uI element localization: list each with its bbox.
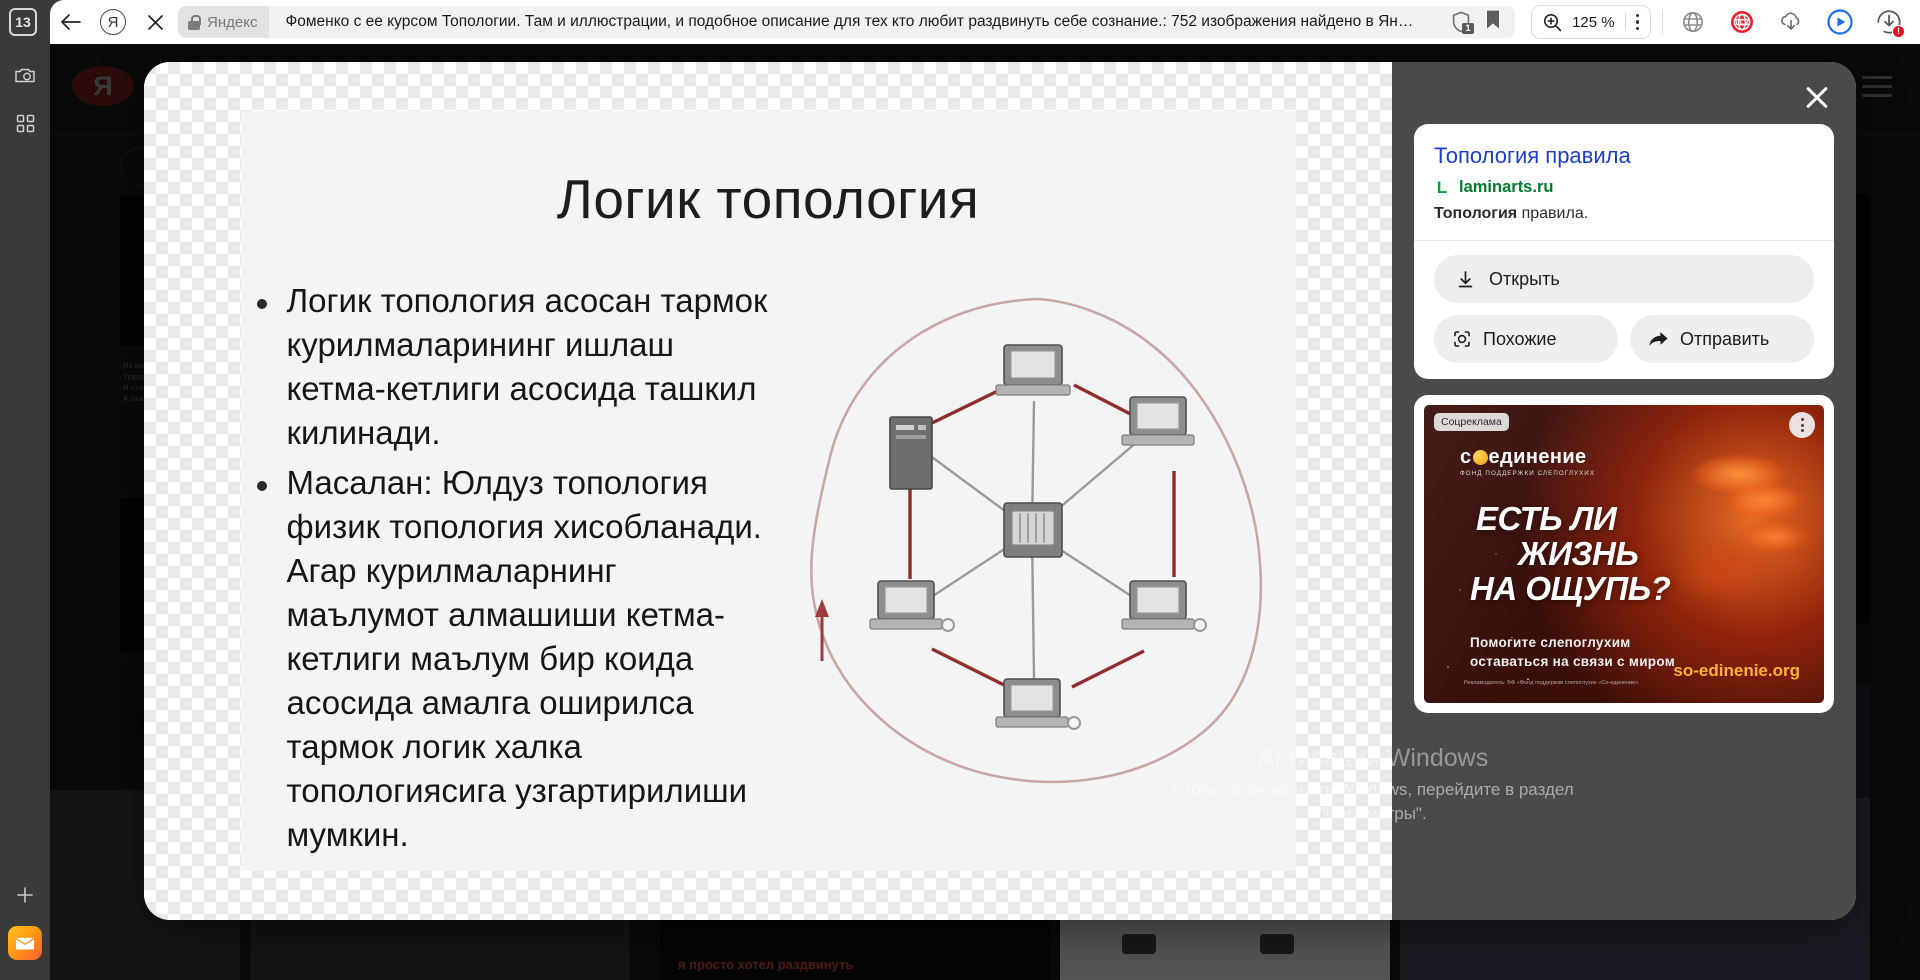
ad-options-icon[interactable] <box>1789 412 1815 438</box>
presentation-slide: Логик топология Логик топология асосан т… <box>241 111 1296 871</box>
zoom-level-label: 125 % <box>1572 14 1615 31</box>
ad-logo-text: сединение <box>1460 447 1595 467</box>
shield-blocker-icon[interactable]: 1 <box>1451 11 1471 33</box>
zoom-in-icon <box>1543 13 1562 32</box>
download-error-badge: ! <box>1892 25 1905 38</box>
close-icon[interactable] <box>1800 80 1834 114</box>
svg-text:VLX: VLX <box>1735 20 1749 27</box>
zoom-control[interactable]: 125 % <box>1531 5 1651 39</box>
ad-logo: сединение ФОНД ПОДДЕРЖКИ СЛЕПОГЛУХИХ <box>1460 447 1595 477</box>
similar-images-icon <box>1452 329 1472 349</box>
slide-bullet-list: Логик топология асосан тармок курилмалар… <box>257 279 777 863</box>
tab-count-badge[interactable]: 13 <box>9 8 37 36</box>
apps-grid-icon[interactable] <box>8 106 42 140</box>
similar-button-label: Похожие <box>1483 329 1556 350</box>
snippet-highlight: Топология <box>1434 205 1517 222</box>
cloud-download-icon[interactable] <box>1776 7 1806 37</box>
list-item: Масалан: Юлдуз топология физик топология… <box>257 461 777 857</box>
computer-node-icon <box>1122 397 1194 445</box>
lock-icon <box>188 15 200 30</box>
send-button-label: Отправить <box>1680 329 1769 350</box>
slide-title: Логик топология <box>241 167 1296 231</box>
ad-subtitle-line: оставаться на связи с миром <box>1470 652 1675 671</box>
result-snippet: Топология правила. <box>1434 203 1814 224</box>
site-chip-label: Яндекс <box>207 14 257 31</box>
mail-icon[interactable] <box>8 926 42 960</box>
image-info-card: Топология правила L laminarts.ru Тополог… <box>1414 124 1834 379</box>
download-icon <box>1456 270 1475 289</box>
bookmark-icon[interactable] <box>1485 9 1501 35</box>
yandex-circle-glyph: Я <box>100 9 126 35</box>
add-service-icon[interactable] <box>8 878 42 912</box>
site-security-chip[interactable]: Яндекс <box>178 6 269 38</box>
ad-fine-print: Рекламодатель: БФ «Фонд поддержки слепог… <box>1464 679 1638 687</box>
ad-headline-line: ЖИЗНЬ <box>1518 536 1806 571</box>
viewer-side-panel: Топология правила L laminarts.ru Тополог… <box>1392 62 1856 920</box>
domain-text: laminarts.ru <box>1459 178 1553 197</box>
bullet-dot-icon <box>257 481 267 491</box>
share-arrow-icon <box>1648 330 1669 349</box>
computer-node-icon <box>870 581 954 631</box>
ad-label-badge: Соцреклама <box>1434 413 1509 431</box>
address-text[interactable]: Фоменко с ее курсом Топологии. Там и илл… <box>269 13 1451 31</box>
toolbar-separator <box>1662 10 1663 34</box>
address-bar-icons: 1 <box>1451 9 1515 35</box>
list-item: Логик топология асосан тармок курилмалар… <box>257 279 777 455</box>
computer-node-icon <box>996 679 1080 729</box>
snippet-rest: правила. <box>1517 205 1588 222</box>
address-bar[interactable]: Яндекс Фоменко с ее курсом Топологии. Та… <box>178 6 1515 38</box>
viewer-image-area[interactable]: Логик топология Логик топология асосан т… <box>144 62 1392 920</box>
ad-subtitle: Помогите слепоглухим оставаться на связи… <box>1470 633 1675 671</box>
yandex-reload-icon[interactable]: Я <box>92 1 134 43</box>
globe-icon[interactable] <box>1678 7 1708 37</box>
media-play-icon[interactable] <box>1825 7 1855 37</box>
advertisement-card[interactable]: Соцреклама сединение ФОНД ПОДДЕРЖКИ СЛЕП… <box>1414 395 1834 713</box>
image-viewer-modal: Логик топология Логик топология асосан т… <box>144 62 1856 920</box>
computer-node-icon <box>996 345 1070 395</box>
ad-subtitle-line: Помогите слепоглухим <box>1470 633 1675 652</box>
ring-network-topology-diagram <box>782 281 1282 801</box>
ad-headline: ЕСТЬ ЛИ ЖИЗНЬ НА ОЩУПЬ? <box>1476 501 1806 606</box>
browser-side-rail <box>0 44 50 980</box>
downloads-icon[interactable]: ! <box>1874 7 1904 37</box>
browser-chrome: 13 Я Яндекс Фоменко с ее курсом Топологи… <box>0 0 1920 44</box>
ring-direction-arrow-icon <box>815 599 829 617</box>
open-button-label: Открыть <box>1489 269 1560 290</box>
ad-headline-line: ЕСТЬ ЛИ <box>1476 501 1806 536</box>
computer-node-icon <box>1122 581 1206 631</box>
zoom-divider <box>1625 13 1626 31</box>
back-arrow-icon[interactable] <box>50 1 92 43</box>
zoom-menu-icon[interactable] <box>1636 14 1639 30</box>
shield-count: 1 <box>1462 23 1474 34</box>
similar-button[interactable]: Похожие <box>1434 315 1618 363</box>
send-button[interactable]: Отправить <box>1630 315 1814 363</box>
result-title[interactable]: Топология правила <box>1434 142 1814 170</box>
ad-banner[interactable]: Соцреклама сединение ФОНД ПОДДЕРЖКИ СЛЕП… <box>1424 405 1824 703</box>
server-node-icon <box>890 417 932 489</box>
network-hub-icon <box>1004 503 1062 557</box>
secondary-actions-row: Похожие Отправить <box>1434 315 1814 363</box>
ad-logo-subtitle: ФОНД ПОДДЕРЖКИ СЛЕПОГЛУХИХ <box>1460 470 1595 477</box>
vpn-globe-icon[interactable]: VLX <box>1727 7 1757 37</box>
favicon-icon: L <box>1434 179 1450 196</box>
source-domain-row[interactable]: L laminarts.ru <box>1434 178 1814 197</box>
open-button[interactable]: Открыть <box>1434 255 1814 303</box>
browser-toolbar: Я Яндекс Фоменко с ее курсом Топологии. … <box>50 0 1920 44</box>
bullet-text: Масалан: Юлдуз топология физик топология… <box>287 461 777 857</box>
close-tab-icon[interactable] <box>134 1 176 43</box>
bullet-dot-icon <box>257 299 267 309</box>
extension-toolbar: VLX ! <box>1674 7 1920 37</box>
bullet-text: Логик топология асосан тармок курилмалар… <box>287 279 777 455</box>
screenshot-icon[interactable] <box>8 58 42 92</box>
logo-dot-icon <box>1473 450 1488 465</box>
ad-headline-line: НА ОЩУПЬ? <box>1470 571 1806 606</box>
ad-url[interactable]: so-edinenie.org <box>1673 661 1800 681</box>
card-divider <box>1414 240 1834 241</box>
